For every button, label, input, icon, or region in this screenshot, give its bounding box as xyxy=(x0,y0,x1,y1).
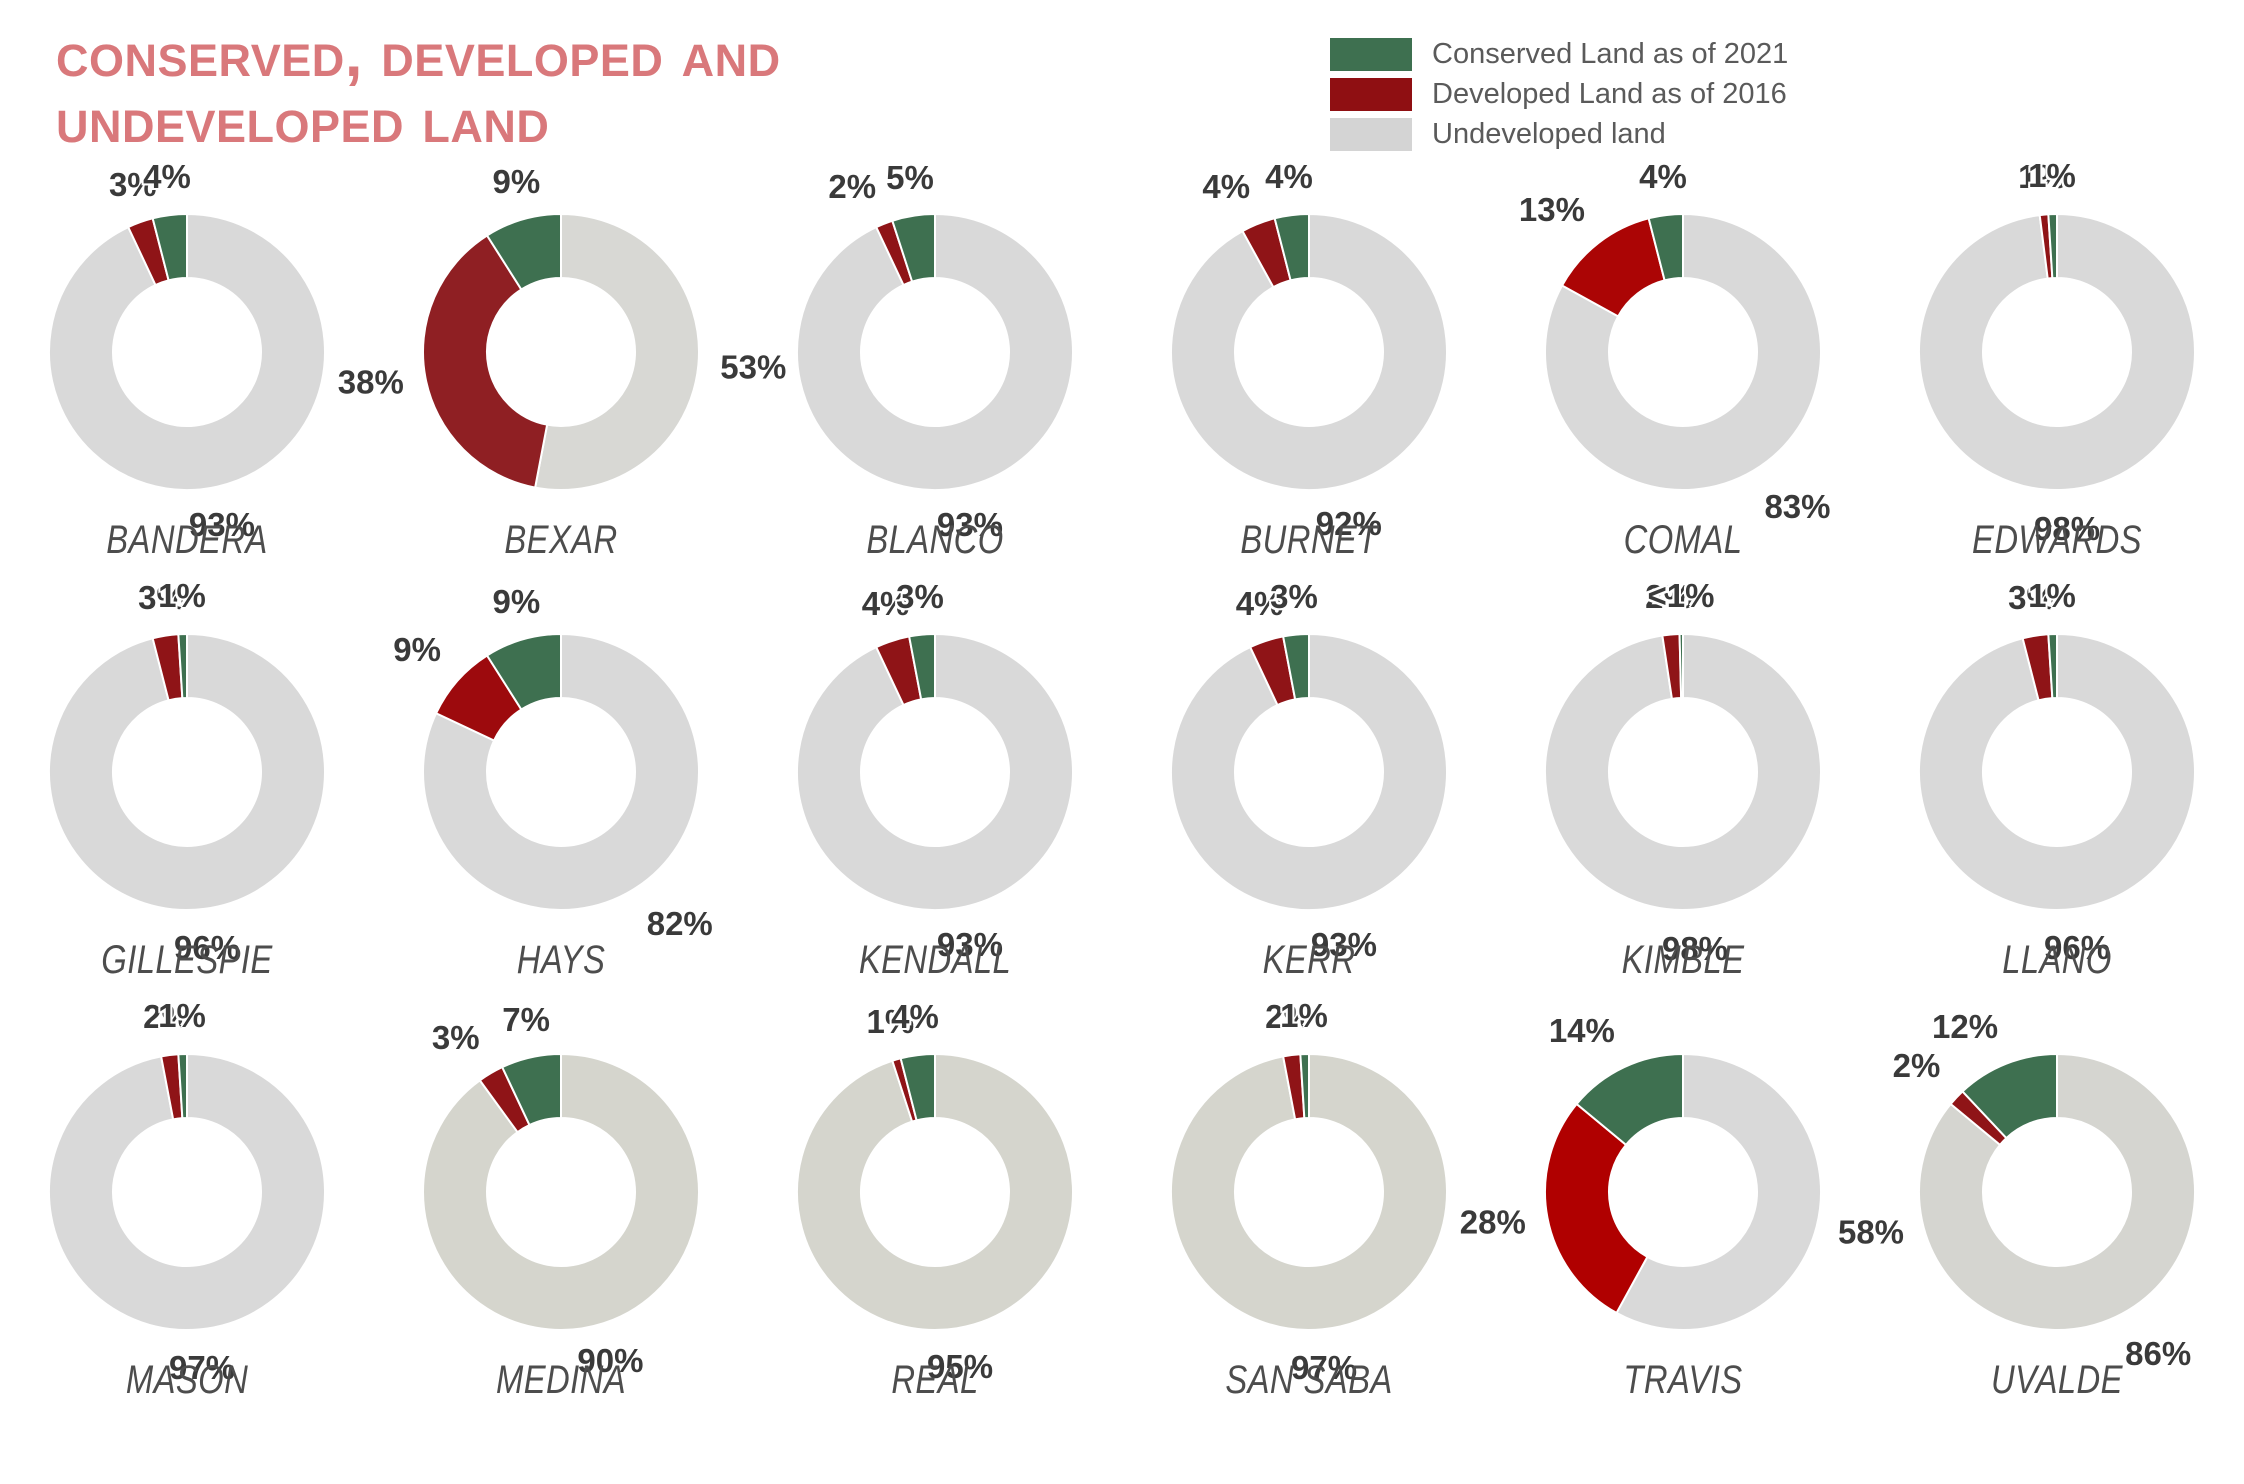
county-label: BURNET xyxy=(1156,518,1463,563)
slice-label-conserved: 1% xyxy=(158,999,206,1032)
slice-label-conserved: 4% xyxy=(1639,160,1687,193)
slice-label-conserved: 9% xyxy=(493,165,541,198)
legend-item-undeveloped: Undeveloped land xyxy=(1330,118,1788,151)
legend-label-undeveloped: Undeveloped land xyxy=(1432,120,1666,149)
donut-chart-kendall: 93%4%3%KENDALL xyxy=(748,616,1122,1036)
donut-ring: 92%4%4% xyxy=(1159,202,1459,502)
slice-label-conserved: 5% xyxy=(886,161,934,194)
county-label: BANDERA xyxy=(34,518,341,563)
donut-chart-gillespie: 96%3%1%GILLESPIE xyxy=(0,616,374,1036)
legend-item-conserved: Conserved Land as of 2021 xyxy=(1330,38,1788,71)
county-label: TRAVIS xyxy=(1530,1358,1837,1403)
county-label: BLANCO xyxy=(782,518,1089,563)
donut-chart-uvalde: 86%2%12%UVALDE xyxy=(1870,1036,2244,1456)
donut-chart-hays: 82%9%9%HAYS xyxy=(374,616,748,1036)
donut-ring: 90%3%7% xyxy=(411,1042,711,1342)
donut-ring: 86%2%12% xyxy=(1907,1042,2207,1342)
legend-swatch-developed xyxy=(1330,78,1412,111)
donut-chart-edwards: 98%1%1%EDWARDS xyxy=(1870,196,2244,616)
donut-ring: 95%1%4% xyxy=(785,1042,1085,1342)
county-label: KENDALL xyxy=(782,938,1089,983)
donut-ring: 93%3%4% xyxy=(37,202,337,502)
county-label: KIMBLE xyxy=(1530,938,1837,983)
slice-label-conserved: 3% xyxy=(1270,580,1318,613)
county-label: MEDINA xyxy=(408,1358,715,1403)
slice-label-developed: 2% xyxy=(1893,1049,1941,1082)
donut-chart-real: 95%1%4%REAL xyxy=(748,1036,1122,1456)
legend-swatch-undeveloped xyxy=(1330,118,1412,151)
slice-label-conserved: 9% xyxy=(493,585,541,618)
county-label: KERR xyxy=(1156,938,1463,983)
county-label: MASON xyxy=(34,1358,341,1403)
donut-chart-bexar: 53%38%9%BEXAR xyxy=(374,196,748,616)
county-label: COMAL xyxy=(1530,518,1837,563)
donut-ring: 93%4%3% xyxy=(785,622,1085,922)
slice-label-conserved: 1% xyxy=(2028,579,2076,612)
slice-label-conserved: 14% xyxy=(1549,1014,1615,1047)
county-label: LLANO xyxy=(1904,938,2211,983)
donut-chart-comal: 83%13%4%COMAL xyxy=(1496,196,1870,616)
slice-label-conserved: <1% xyxy=(1648,579,1715,612)
slice-label-conserved: 1% xyxy=(158,579,206,612)
county-label: SAN SABA xyxy=(1156,1358,1463,1403)
donut-ring: 97%2%1% xyxy=(1159,1042,1459,1342)
county-label: UVALDE xyxy=(1904,1358,2211,1403)
slice-label-developed: 3% xyxy=(432,1021,480,1054)
chart-legend: Conserved Land as of 2021 Developed Land… xyxy=(1330,38,1788,151)
donut-ring: 96%3%1% xyxy=(37,622,337,922)
county-label: REAL xyxy=(782,1358,1089,1403)
donut-chart-kerr: 93%4%3%KERR xyxy=(1122,616,1496,1036)
slice-label-developed: 28% xyxy=(1460,1205,1526,1238)
slice-label-developed: 4% xyxy=(1202,170,1250,203)
county-label: BEXAR xyxy=(408,518,715,563)
slice-label-conserved: 4% xyxy=(1265,160,1313,193)
donut-chart-san-saba: 97%2%1%SAN SABA xyxy=(1122,1036,1496,1456)
donut-chart-blanco: 93%2%5%BLANCO xyxy=(748,196,1122,616)
county-label: GILLESPIE xyxy=(34,938,341,983)
slice-label-conserved: 1% xyxy=(2028,159,2076,192)
donut-ring: 97%2%1% xyxy=(37,1042,337,1342)
slice-label-developed: 13% xyxy=(1519,193,1585,226)
donut-chart-travis: 58%28%14%TRAVIS xyxy=(1496,1036,1870,1456)
legend-label-conserved: Conserved Land as of 2021 xyxy=(1432,40,1788,69)
donut-chart-burnet: 92%4%4%BURNET xyxy=(1122,196,1496,616)
slice-label-developed: 38% xyxy=(338,365,404,398)
donut-ring: 98%1%1% xyxy=(1907,202,2207,502)
slice-label-conserved: 7% xyxy=(502,1003,550,1036)
donut-chart-llano: 96%3%1%LLANO xyxy=(1870,616,2244,1036)
donut-ring: 93%2%5% xyxy=(785,202,1085,502)
slice-label-conserved: 4% xyxy=(891,1000,939,1033)
donut-ring: 53%38%9% xyxy=(411,202,711,502)
county-label: EDWARDS xyxy=(1904,518,2211,563)
donut-ring: 98%2%<1% xyxy=(1533,622,1833,922)
donut-ring: 82%9%9% xyxy=(411,622,711,922)
slice-label-conserved: 4% xyxy=(143,160,191,193)
donut-chart-mason: 97%2%1%MASON xyxy=(0,1036,374,1456)
slice-label-developed: 9% xyxy=(393,633,441,666)
donut-ring: 58%28%14% xyxy=(1533,1042,1833,1342)
slice-label-undeveloped: 82% xyxy=(647,907,713,940)
donut-chart-medina: 90%3%7%MEDINA xyxy=(374,1036,748,1456)
county-label: HAYS xyxy=(408,938,715,983)
donut-segment-conserved xyxy=(1680,634,1683,698)
slice-label-conserved: 12% xyxy=(1932,1010,1998,1043)
donut-ring: 96%3%1% xyxy=(1907,622,2207,922)
page-title: Conserved, Developed and Undeveloped Lan… xyxy=(56,22,1116,154)
slice-label-conserved: 1% xyxy=(1280,999,1328,1032)
donut-chart-grid: 93%3%4%BANDERA53%38%9%BEXAR93%2%5%BLANCO… xyxy=(0,196,2244,1456)
legend-swatch-conserved xyxy=(1330,38,1412,71)
donut-ring: 93%4%3% xyxy=(1159,622,1459,922)
legend-label-developed: Developed Land as of 2016 xyxy=(1432,80,1787,109)
legend-item-developed: Developed Land as of 2016 xyxy=(1330,78,1788,111)
slice-label-developed: 2% xyxy=(828,170,876,203)
donut-chart-bandera: 93%3%4%BANDERA xyxy=(0,196,374,616)
donut-ring: 83%13%4% xyxy=(1533,202,1833,502)
slice-label-conserved: 3% xyxy=(896,580,944,613)
donut-chart-kimble: 98%2%<1%KIMBLE xyxy=(1496,616,1870,1036)
